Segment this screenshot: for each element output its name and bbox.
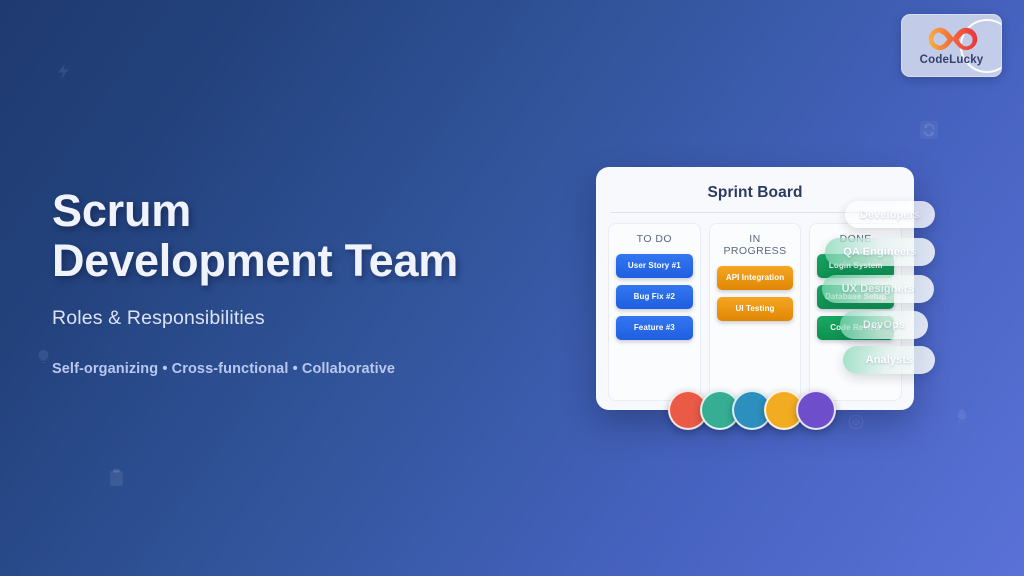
role-pill-devops[interactable]: DevOps [840,311,928,339]
lightning-bolt-icon [55,59,73,83]
task-card[interactable]: Bug Fix #2 [616,285,693,309]
page-subtitle: Roles & Responsibilities [52,307,572,330]
role-pill-ux-designers[interactable]: UX Designers [822,275,934,303]
avatar[interactable] [796,390,836,430]
task-card[interactable]: API Integration [717,266,794,290]
board-title: Sprint Board [596,167,914,202]
board-column-in-progress: IN PROGRESS API Integration UI Testing [709,223,802,401]
lightbulb-icon [35,346,52,368]
role-pill-qa-engineers[interactable]: QA Engineers [825,238,935,266]
team-avatar-group [668,390,828,430]
task-card[interactable]: User Story #1 [616,254,693,278]
refresh-sync-icon [918,119,940,141]
hero-tagline: Self-organizing • Cross-functional • Col… [52,361,572,377]
page-title: Scrum Development Team [52,186,572,287]
role-pill-analysts[interactable]: Analysts [843,346,935,374]
rocket-icon [952,405,972,429]
task-card[interactable]: UI Testing [717,297,794,321]
column-header-in-progress: IN PROGRESS [717,233,794,257]
brand-name: CodeLucky [902,54,1001,66]
column-header-todo: TO DO [616,233,693,245]
clipboard-icon [107,466,126,490]
target-icon [847,413,865,431]
role-pill-developers[interactable]: Developers [845,201,935,228]
board-column-todo: TO DO User Story #1 Bug Fix #2 Feature #… [608,223,701,401]
task-card[interactable]: Feature #3 [616,316,693,340]
hero-block: Scrum Development Team Roles & Responsib… [52,186,572,377]
brand-logo-badge: CodeLucky [901,14,1002,77]
infinity-icon [925,24,981,54]
